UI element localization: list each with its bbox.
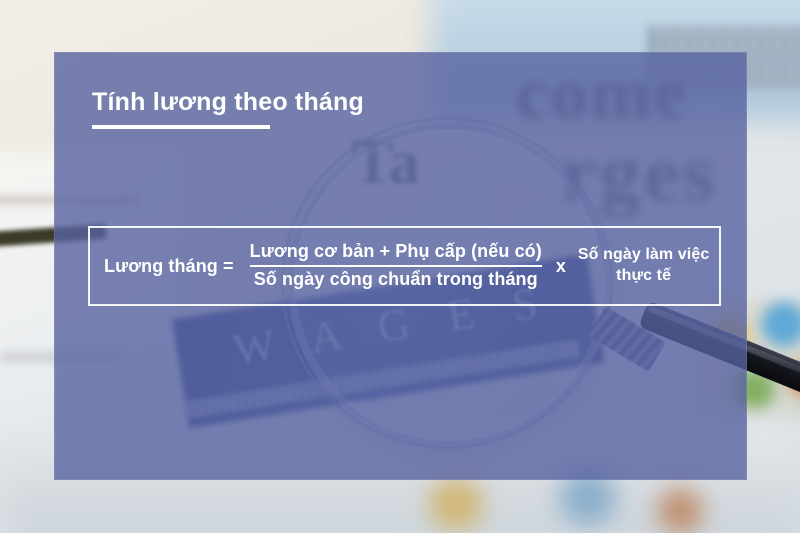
- formula-numerator: Lương cơ bản + Phụ cấp (nếu có): [250, 241, 542, 263]
- formula-fraction: Lương cơ bản + Phụ cấp (nếu có) Số ngày …: [250, 241, 542, 291]
- page-title: Tính lương theo tháng: [92, 88, 364, 117]
- formula-denominator: Số ngày công chuẩn trong tháng: [254, 269, 538, 291]
- formula-box: Lương tháng = Lương cơ bản + Phụ cấp (nế…: [88, 226, 721, 306]
- formula-right-hand-side: Số ngày làm việc thực tế: [578, 245, 709, 287]
- formula-multiply-operator: x: [556, 256, 566, 277]
- fraction-bar: [250, 265, 542, 268]
- title-underline: [92, 125, 270, 129]
- formula-left-hand-side: Lương tháng =: [104, 256, 234, 277]
- slide-canvas: come rges W A G E S Ta Tính lương theo t…: [0, 0, 800, 533]
